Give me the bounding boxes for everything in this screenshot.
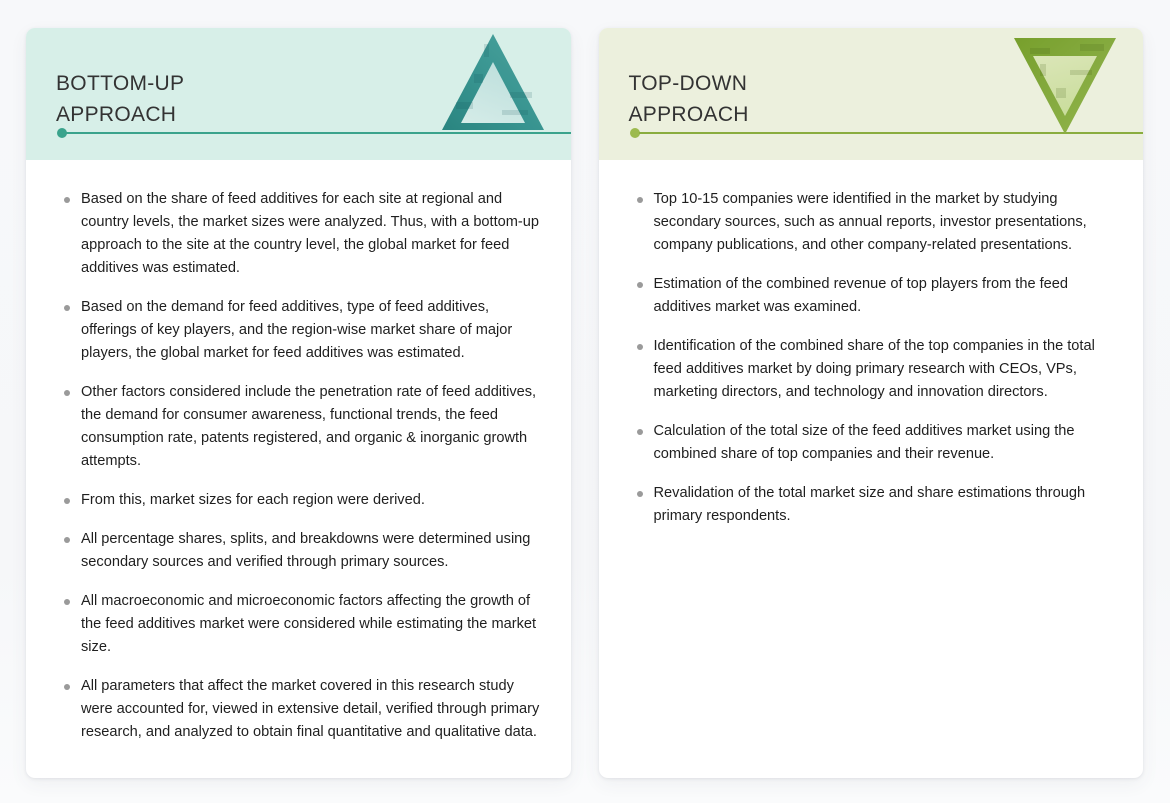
upward-triangle-icon <box>440 30 546 138</box>
bottom-up-title: BOTTOM-UP APPROACH <box>56 68 184 130</box>
bottom-up-body: Based on the share of feed additives for… <box>26 160 571 778</box>
list-item: All macroeconomic and microeconomic fact… <box>56 590 549 659</box>
top-down-header: TOP-DOWN APPROACH <box>599 28 1144 160</box>
top-down-approach-card: TOP-DOWN APPROACH <box>599 28 1144 778</box>
top-down-points-list: Top 10-15 companies were identified in t… <box>629 188 1122 528</box>
bottom-up-header: BOTTOM-UP APPROACH <box>26 28 571 160</box>
list-item: Top 10-15 companies were identified in t… <box>629 188 1122 257</box>
list-item: Identification of the combined share of … <box>629 335 1122 404</box>
list-item: Calculation of the total size of the fee… <box>629 420 1122 466</box>
list-item: From this, market sizes for each region … <box>56 489 549 512</box>
top-down-title: TOP-DOWN APPROACH <box>629 68 749 130</box>
list-item: Based on the demand for feed additives, … <box>56 296 549 365</box>
bottom-up-points-list: Based on the share of feed additives for… <box>56 188 549 744</box>
bottom-up-approach-card: BOTTOM-UP APPROACH <box>26 28 571 778</box>
list-item: All parameters that affect the market co… <box>56 675 549 744</box>
list-item: Other factors considered include the pen… <box>56 381 549 473</box>
list-item: All percentage shares, splits, and break… <box>56 528 549 574</box>
list-item: Based on the share of feed additives for… <box>56 188 549 280</box>
downward-triangle-icon <box>1012 30 1118 138</box>
list-item: Estimation of the combined revenue of to… <box>629 273 1122 319</box>
approach-comparison-board: BOTTOM-UP APPROACH <box>0 0 1170 803</box>
list-item: Revalidation of the total market size an… <box>629 482 1122 528</box>
top-down-body: Top 10-15 companies were identified in t… <box>599 160 1144 778</box>
